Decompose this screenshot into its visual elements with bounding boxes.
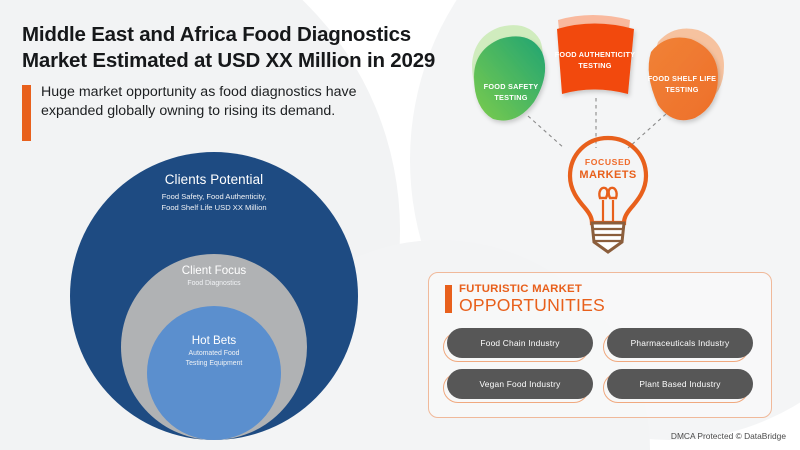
subtitle-text: Huge market opportunity as food diagnost… — [41, 83, 371, 121]
circle-sub-clients-potential-line1: Food Safety, Food Authenticity, — [70, 192, 358, 203]
fan-label-food-authenticity-line1: FOOD AUTHENTICITY — [555, 50, 636, 59]
opportunities-heading: FUTURISTIC MARKET OPPORTUNITIES — [429, 273, 771, 314]
opportunity-item-pharmaceuticals-industry[interactable]: Pharmaceuticals Industry — [607, 328, 753, 358]
circle-title-clients-potential: Clients Potential — [70, 172, 358, 187]
opportunities-heading-line2: OPPORTUNITIES — [459, 296, 605, 314]
infographic-canvas: Middle East and Africa Food Diagnostics … — [0, 0, 800, 450]
subtitle-block: Huge market opportunity as food diagnost… — [22, 83, 452, 141]
fan-label-food-authenticity-line2: TESTING — [578, 61, 611, 70]
opportunity-item-1-wrap: Pharmaceuticals Industry — [607, 328, 753, 358]
opportunities-accent-bar-icon — [445, 285, 452, 313]
bulb-label-line2: MARKETS — [579, 169, 636, 181]
concentric-circles-diagram: Clients Potential Food Safety, Food Auth… — [64, 148, 364, 448]
circle-sub-hot-bets: Automated Food Testing Equipment — [147, 349, 281, 368]
lightbulb-icon — [570, 138, 646, 252]
circle-sub-clients-potential-line2: Food Shelf Life USD XX Million — [70, 203, 358, 214]
page-title: Middle East and Africa Food Diagnostics … — [22, 22, 452, 74]
opportunity-item-2-wrap: Vegan Food Industry — [447, 369, 593, 399]
fan-label-food-safety-line2: TESTING — [494, 93, 527, 102]
page-title-line-2: Market Estimated at USD XX Million in 20… — [22, 48, 452, 74]
futuristic-market-opportunities-panel: FUTURISTIC MARKET OPPORTUNITIES Food Cha… — [428, 272, 772, 418]
opportunities-grid: Food Chain Industry Pharmaceuticals Indu… — [429, 314, 771, 399]
circle-title-hot-bets: Hot Bets — [147, 334, 281, 347]
circle-hot-bets[interactable] — [147, 306, 281, 440]
lightbulb-focused-markets[interactable]: FOCUSED MARKETS — [548, 128, 668, 256]
page-title-line-1: Middle East and Africa Food Diagnostics — [22, 22, 452, 48]
fan-label-food-shelf-life-line1: FOOD SHELF LIFE — [648, 74, 717, 83]
opportunity-item-0-wrap: Food Chain Industry — [447, 328, 593, 358]
circle-sub-hot-bets-line2: Testing Equipment — [147, 359, 281, 369]
circle-label-hot-bets: Hot Bets Automated Food Testing Equipmen… — [147, 334, 281, 368]
circle-label-client-focus: Client Focus Food Diagnostics — [121, 264, 307, 289]
opportunity-item-plant-based-industry[interactable]: Plant Based Industry — [607, 369, 753, 399]
bulb-label-line1: FOCUSED — [585, 157, 631, 167]
circle-label-clients-potential: Clients Potential Food Safety, Food Auth… — [70, 172, 358, 213]
header: Middle East and Africa Food Diagnostics … — [22, 22, 452, 141]
copyright-notice: DMCA Protected © DataBridge — [671, 431, 786, 441]
fan-label-food-safety-line1: FOOD SAFETY — [484, 82, 539, 91]
circle-sub-client-focus: Food Diagnostics — [121, 279, 307, 289]
opportunity-item-vegan-food-industry[interactable]: Vegan Food Industry — [447, 369, 593, 399]
opportunity-item-food-chain-industry[interactable]: Food Chain Industry — [447, 328, 593, 358]
circle-title-client-focus: Client Focus — [121, 264, 307, 277]
opportunity-item-3-wrap: Plant Based Industry — [607, 369, 753, 399]
circle-sub-hot-bets-line1: Automated Food — [147, 349, 281, 359]
accent-bar-icon — [22, 85, 31, 141]
fan-label-food-shelf-life-line2: TESTING — [665, 85, 698, 94]
fan-segment-food-safety[interactable] — [474, 36, 545, 120]
circle-sub-clients-potential: Food Safety, Food Authenticity, Food She… — [70, 192, 358, 213]
